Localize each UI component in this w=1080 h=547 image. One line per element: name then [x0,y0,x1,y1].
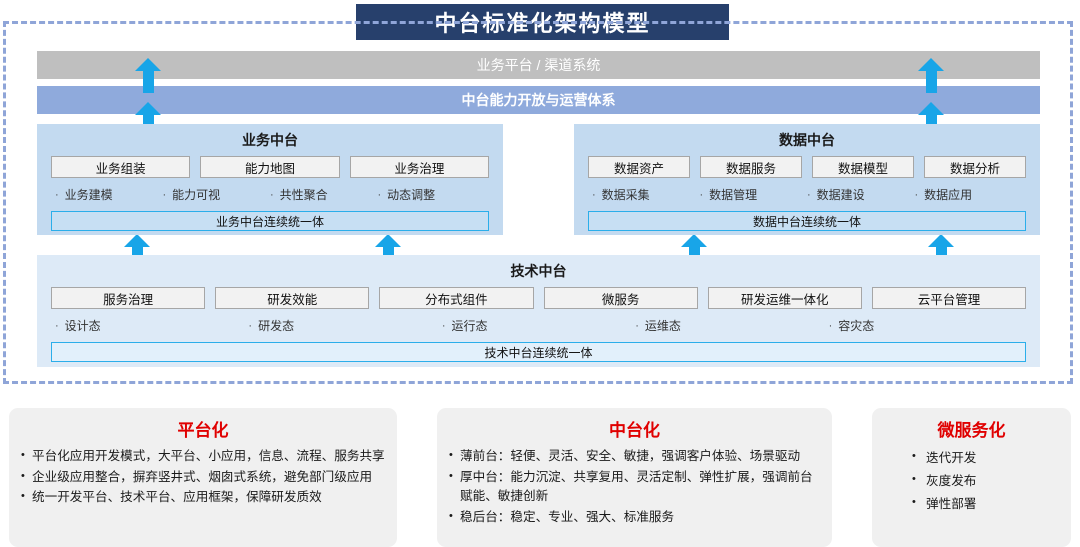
arrow-data-to-capability-upper [918,58,944,93]
card-bullet: 稳后台：稳定、专业、强大、标准服务 [449,508,820,528]
arrow-business-to-capability-upper [135,58,161,93]
tech-bullet-label: 研发态 [258,317,294,334]
bullet-dot-icon: · [807,189,811,201]
card-bullet: 厚中台：能力沉淀、共享复用、灵活定制、弹性扩展，强调前台赋能、敏捷创新 [449,468,820,507]
card-platformization: 平台化 平台化应用开发模式，大平台、小应用，信息、流程、服务共享 企业级应用整合… [9,408,397,547]
data-bullet-label: 数据应用 [924,186,972,203]
data-bullet: · 数据应用 [915,186,1023,203]
tech-bullet: · 研发态 [248,317,441,334]
bullet-dot-icon: · [829,320,833,332]
tech-item-box[interactable]: 研发效能 [215,287,369,309]
data-item-box[interactable]: 数据资产 [588,156,690,178]
business-bullet-label: 能力可视 [172,186,220,203]
channel-system-bar: 业务平台 / 渠道系统 [37,51,1040,79]
tech-item-box[interactable]: 云平台管理 [872,287,1026,309]
business-platform-title: 业务中台 [37,130,503,150]
tech-bullet: · 运行态 [442,317,635,334]
bullet-dot-icon: · [442,320,446,332]
bullet-dot-icon: · [55,320,59,332]
arrow-head-icon [375,234,401,247]
arrow-head-icon [918,102,944,115]
bullet-dot-icon: · [700,189,704,201]
arrow-head-icon [681,234,707,247]
arrow-head-icon [918,58,944,71]
tech-bullet: · 设计态 [55,317,248,334]
business-platform-bullet-row: · 业务建模 · 能力可视 · 共性聚合 · 动态调整 [37,186,503,203]
data-bullet: · 数据采集 [592,186,700,203]
data-platform-footer: 数据中台连续统一体 [588,211,1026,231]
tech-item-box[interactable]: 微服务 [544,287,698,309]
bullet-dot-icon: · [592,189,596,201]
business-platform-footer: 业务中台连续统一体 [51,211,489,231]
bullet-dot-icon: · [270,189,274,201]
data-bullet: · 数据建设 [807,186,915,203]
data-bullet-label: 数据采集 [602,186,650,203]
data-item-box[interactable]: 数据模型 [812,156,914,178]
tech-bullet-label: 运行态 [451,317,487,334]
business-item-box[interactable]: 能力地图 [200,156,339,178]
bullet-dot-icon: · [915,189,919,201]
tech-item-box[interactable]: 研发运维一体化 [708,287,862,309]
tech-platform-title: 技术中台 [37,261,1040,281]
arrow-shaft [926,71,937,93]
bullet-dot-icon: · [55,189,59,201]
tech-item-box[interactable]: 服务治理 [51,287,205,309]
data-bullet-label: 数据建设 [817,186,865,203]
tech-item-box[interactable]: 分布式组件 [379,287,533,309]
data-platform-item-row: 数据资产 数据服务 数据模型 数据分析 [574,156,1040,178]
data-item-box[interactable]: 数据服务 [700,156,802,178]
data-platform-title: 数据中台 [574,130,1040,150]
tech-bullet-label: 容灾态 [838,317,874,334]
tech-bullet-label: 设计态 [65,317,101,334]
card-microservice: 微服务化 迭代开发 灰度发布 弹性部署 [872,408,1071,547]
card-bullet: 企业级应用整合，摒弃竖井式、烟囱式系统，避免部门级应用 [21,468,385,488]
card-microservice-title: 微服务化 [884,416,1059,441]
data-middle-platform-panel: 数据中台 数据资产 数据服务 数据模型 数据分析 · 数据采集 · 数据管理 ·… [574,124,1040,235]
data-item-box[interactable]: 数据分析 [924,156,1026,178]
business-bullet: · 业务建模 [55,186,163,203]
data-platform-bullet-row: · 数据采集 · 数据管理 · 数据建设 · 数据应用 [574,186,1040,203]
arrow-head-icon [928,234,954,247]
arrow-head-icon [124,234,150,247]
bullet-dot-icon: · [635,320,639,332]
capability-operation-label: 中台能力开放与运营体系 [462,90,616,110]
business-bullet: · 动态调整 [378,186,486,203]
card-platformization-bullets: 平台化应用开发模式，大平台、小应用，信息、流程、服务共享 企业级应用整合，摒弃竖… [21,447,385,508]
arrow-head-icon [135,58,161,71]
card-microservice-bullets: 迭代开发 灰度发布 弹性部署 [884,447,1059,515]
channel-system-label: 业务平台 / 渠道系统 [477,55,601,75]
tech-bullet: · 容灾态 [829,317,1022,334]
bullet-dot-icon: · [248,320,252,332]
card-bullet: 迭代开发 [912,447,1059,469]
card-middle-platformization-bullets: 薄前台：轻便、灵活、安全、敏捷，强调客户体验、场景驱动 厚中台：能力沉淀、共享复… [449,447,820,527]
card-bullet: 弹性部署 [912,493,1059,515]
business-bullet: · 能力可视 [163,186,271,203]
business-item-box[interactable]: 业务治理 [350,156,489,178]
tech-bullet-label: 运维态 [645,317,681,334]
card-bullet: 薄前台：轻便、灵活、安全、敏捷，强调客户体验、场景驱动 [449,447,820,467]
tech-platform-bullet-row: · 设计态 · 研发态 · 运行态 · 运维态 · 容灾态 [37,317,1040,334]
card-middle-platformization-title: 中台化 [449,416,820,441]
card-bullet: 灰度发布 [912,470,1059,492]
business-bullet-label: 动态调整 [387,186,435,203]
business-item-box[interactable]: 业务组装 [51,156,190,178]
data-bullet-label: 数据管理 [709,186,757,203]
business-bullet-label: 业务建模 [65,186,113,203]
business-platform-item-row: 业务组装 能力地图 业务治理 [37,156,503,178]
card-bullet: 平台化应用开发模式，大平台、小应用，信息、流程、服务共享 [21,447,385,467]
card-bullet: 统一开发平台、技术平台、应用框架，保障研发质效 [21,488,385,508]
arrow-head-icon [135,102,161,115]
card-middle-platformization: 中台化 薄前台：轻便、灵活、安全、敏捷，强调客户体验、场景驱动 厚中台：能力沉淀… [437,408,832,547]
business-bullet: · 共性聚合 [270,186,378,203]
tech-platform-footer: 技术中台连续统一体 [51,342,1026,362]
tech-bullet: · 运维态 [635,317,828,334]
data-bullet: · 数据管理 [700,186,808,203]
business-middle-platform-panel: 业务中台 业务组装 能力地图 业务治理 · 业务建模 · 能力可视 · 共性聚合… [37,124,503,235]
business-bullet-label: 共性聚合 [280,186,328,203]
bullet-dot-icon: · [378,189,382,201]
card-platformization-title: 平台化 [21,416,385,441]
arrow-shaft [143,71,154,93]
technical-middle-platform-panel: 技术中台 服务治理 研发效能 分布式组件 微服务 研发运维一体化 云平台管理 ·… [37,255,1040,367]
capability-operation-bar: 中台能力开放与运营体系 [37,86,1040,114]
tech-platform-item-row: 服务治理 研发效能 分布式组件 微服务 研发运维一体化 云平台管理 [37,287,1040,309]
bullet-dot-icon: · [163,189,167,201]
